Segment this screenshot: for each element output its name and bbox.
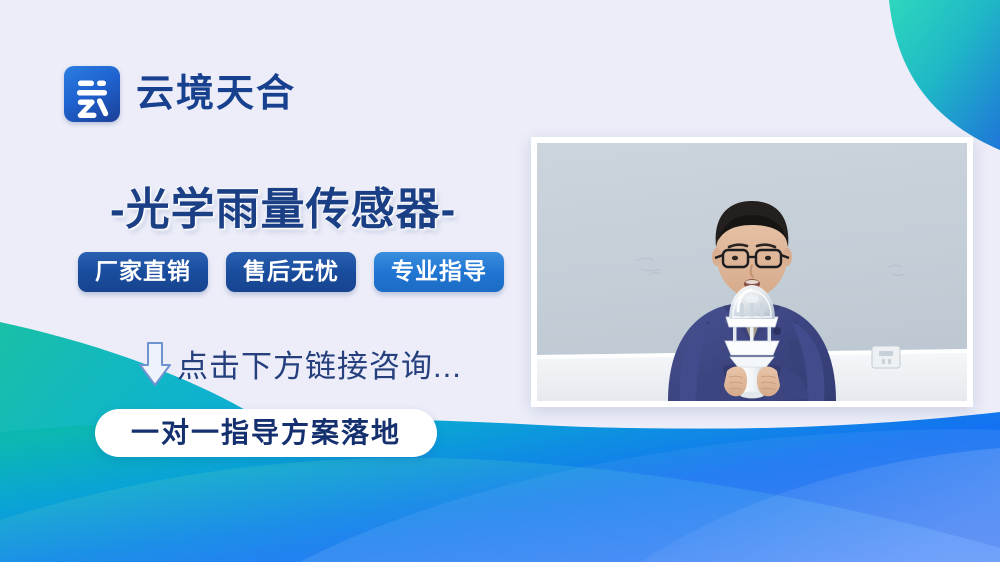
cta-pill-button[interactable]: 一对一指导方案落地 — [95, 409, 437, 457]
video-frame — [537, 143, 967, 401]
promo-banner: 云境天合 -光学雨量传感器- 厂家直销 售后无忧 专业指导 点击下方链接咨询..… — [0, 0, 1000, 562]
cta-pill-label: 一对一指导方案落地 — [131, 419, 401, 447]
cta-row: 点击下方链接咨询... — [135, 339, 462, 394]
cta-text: 点击下方链接咨询... — [177, 351, 462, 382]
arrow-down-icon — [135, 339, 175, 394]
video-scene — [537, 143, 967, 401]
cloud-logo-icon — [64, 66, 120, 122]
badge-expert-guidance[interactable]: 专业指导 — [374, 252, 504, 292]
feature-badges: 厂家直销 售后无忧 专业指导 — [78, 252, 504, 292]
badge-factory-direct[interactable]: 厂家直销 — [78, 252, 208, 292]
brand-logo: 云境天合 — [64, 66, 296, 122]
wall-outlet — [872, 346, 900, 368]
brand-name: 云境天合 — [136, 75, 296, 113]
badge-after-sales[interactable]: 售后无忧 — [226, 252, 356, 292]
product-demo-video[interactable] — [531, 137, 973, 407]
page-title: -光学雨量传感器- — [110, 173, 456, 237]
